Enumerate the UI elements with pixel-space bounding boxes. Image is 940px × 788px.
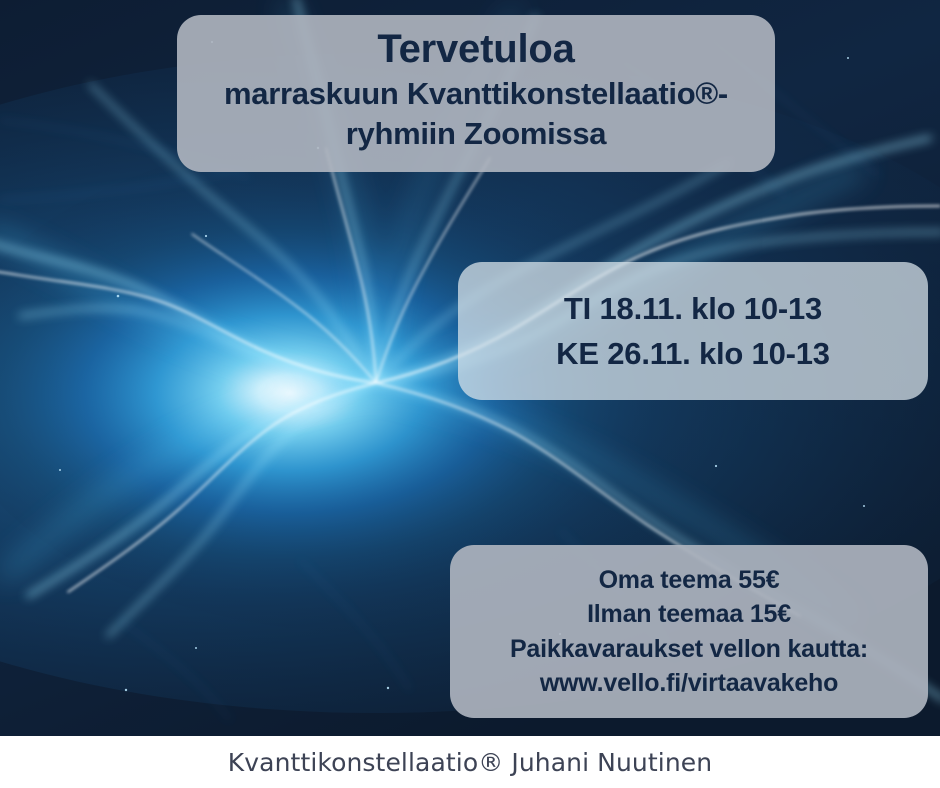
poster-subtitle-line-1: marraskuun Kvanttikonstellaatio®-: [224, 74, 728, 114]
booking-instruction: Paikkavaraukset vellon kautta:: [510, 632, 868, 667]
footer-caption-bar: Kvanttikonstellaatio® Juhani Nuutinen: [0, 736, 940, 788]
poster-title: Tervetuloa: [377, 27, 574, 72]
header-card: Tervetuloa marraskuun Kvanttikonstellaat…: [177, 15, 775, 172]
pricing-card: Oma teema 55€ Ilman teemaa 15€ Paikkavar…: [450, 545, 928, 718]
dates-card: TI 18.11. klo 10-13 KE 26.11. klo 10-13: [458, 262, 928, 400]
date-line-1: TI 18.11. klo 10-13: [564, 286, 822, 331]
price-own-theme: Oma teema 55€: [599, 563, 780, 598]
footer-caption: Kvanttikonstellaatio® Juhani Nuutinen: [228, 748, 712, 777]
date-line-2: KE 26.11. klo 10-13: [556, 331, 830, 376]
poster-subtitle-line-2: ryhmiin Zoomissa: [346, 114, 607, 154]
price-no-theme: Ilman teemaa 15€: [587, 597, 791, 632]
booking-url[interactable]: www.vello.fi/virtaavakeho: [540, 666, 838, 701]
poster: Tervetuloa marraskuun Kvanttikonstellaat…: [0, 0, 940, 788]
